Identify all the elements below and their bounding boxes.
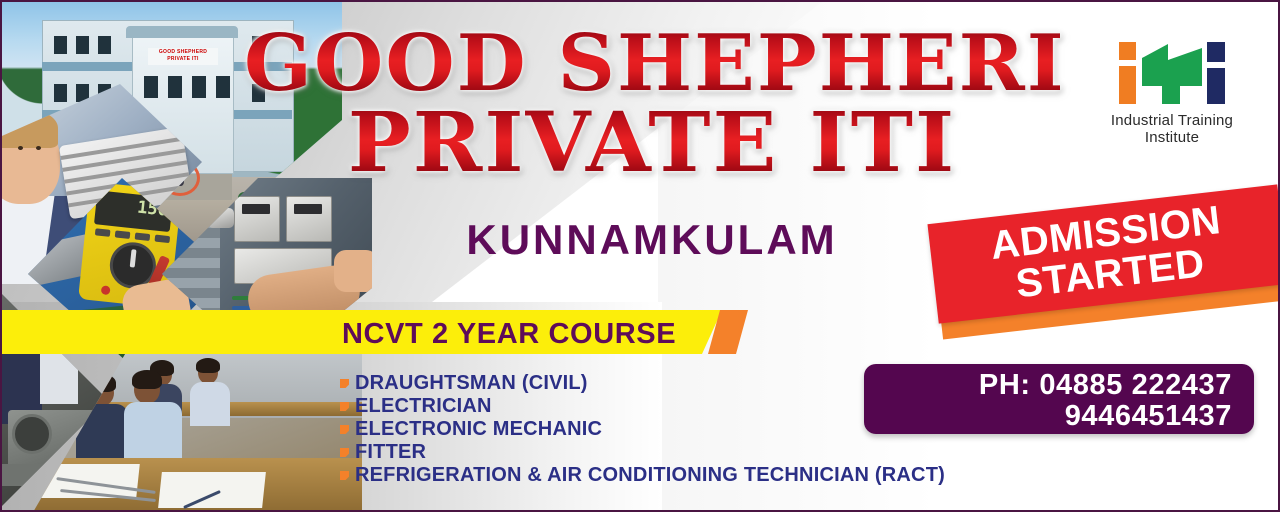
building-window: [76, 36, 89, 54]
logo-letter-i-left-dot: [1119, 42, 1136, 60]
breaker-switch: [294, 204, 322, 214]
title-line-2: PRIVATE ITI: [244, 104, 1060, 184]
logo-letter-i-right-dot: [1207, 42, 1225, 62]
bullet-icon: [340, 379, 349, 388]
building-window: [54, 36, 67, 54]
multimeter-port: [101, 285, 111, 295]
breaker-switch: [242, 204, 270, 214]
building-window: [54, 84, 67, 102]
list-item: REFRIGERATION & AIR CONDITIONING TECHNIC…: [340, 464, 945, 487]
course-name: FITTER: [355, 441, 426, 464]
student-body: [190, 382, 230, 426]
multimeter-button: [135, 232, 151, 241]
bullet-icon: [340, 425, 349, 434]
contact-phone-box[interactable]: PH: 04885 222437 9446451437: [864, 364, 1254, 434]
logo-letter-t-middle: [1142, 44, 1202, 104]
iti-logo: Industrial Training Institute: [1082, 42, 1262, 146]
course-name: REFRIGERATION & AIR CONDITIONING TECHNIC…: [355, 464, 945, 487]
list-item: ELECTRONIC MECHANIC: [340, 418, 945, 441]
building-name-sign: GOOD SHEPHERD PRIVATE ITI: [148, 48, 218, 65]
course-banner-label: NCVT 2 YEAR COURSE: [342, 318, 676, 351]
building-window: [98, 36, 111, 54]
list-item: ELECTRICIAN: [340, 395, 945, 418]
course-name: ELECTRONIC MECHANIC: [355, 418, 602, 441]
iti-logo-mark: [1119, 42, 1225, 104]
student-body: [124, 402, 182, 466]
student-hair: [196, 358, 220, 373]
title-line-1: GOOD SHEPHERD: [244, 26, 1060, 102]
course-name: DRAUGHTSMAN (CIVIL): [355, 372, 588, 395]
building-roof: [126, 26, 238, 38]
student-hair: [132, 370, 162, 389]
building-window: [192, 76, 206, 98]
logo-caption: Industrial Training Institute: [1082, 112, 1262, 146]
bullet-icon: [340, 471, 349, 480]
phone-line-2: 9446451437: [864, 401, 1232, 432]
course-list: DRAUGHTSMAN (CIVIL) ELECTRICIAN ELECTRON…: [340, 372, 945, 487]
ac-fin: [61, 137, 184, 160]
dial-pointer: [130, 249, 137, 267]
technician-eye: [18, 146, 23, 150]
drawing-sheet: [158, 472, 266, 508]
building-window: [168, 76, 182, 98]
multimeter-button: [115, 230, 131, 239]
advertisement-banner: GOOD SHEPHERD PRIVATE ITI: [0, 0, 1280, 512]
list-item: FITTER: [340, 441, 945, 464]
bullet-icon: [340, 448, 349, 457]
logo-letter-i-right-stem: [1207, 68, 1225, 104]
building-window: [216, 76, 230, 98]
multimeter-button: [95, 228, 111, 237]
multimeter-button: [154, 235, 170, 244]
list-item: DRAUGHTSMAN (CIVIL): [340, 372, 945, 395]
building-window: [144, 76, 158, 98]
institute-title: GOOD SHEPHERD PRIVATE ITI: [252, 26, 1052, 183]
technician-eye: [36, 146, 41, 150]
phone-line-1: PH: 04885 222437: [864, 370, 1232, 401]
logo-letter-i-left-stem: [1119, 66, 1136, 104]
lathe-chuck: [12, 414, 52, 454]
course-name: ELECTRICIAN: [355, 395, 492, 418]
bullet-icon: [340, 402, 349, 411]
